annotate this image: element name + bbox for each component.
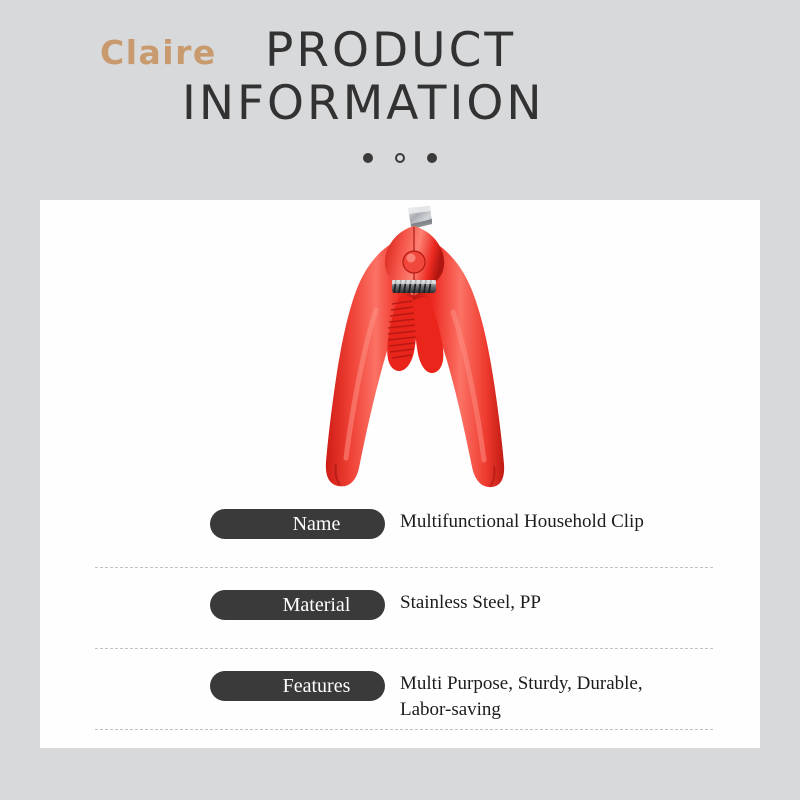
dot-filled-right <box>427 153 437 163</box>
metal-tip-icon <box>408 206 432 229</box>
spec-label-cell: Features <box>95 667 385 701</box>
spec-value-name: Multifunctional Household Clip <box>400 509 768 535</box>
page-title-line-2: INFORMATION <box>182 79 544 128</box>
brand-logo: Claire <box>100 36 217 69</box>
product-spec-table: Name Multifunctional Household Clip Mate… <box>95 505 768 730</box>
spec-value-cell: Multi Purpose, Sturdy, Durable, Labor-sa… <box>385 667 768 723</box>
spec-label-cell: Material <box>95 586 385 620</box>
dot-hollow-center <box>395 153 405 163</box>
spec-label-material: Material <box>210 590 385 620</box>
table-row: Name Multifunctional Household Clip <box>95 505 768 567</box>
spec-value-features-line-1: Multi Purpose, Sturdy, Durable, <box>400 671 768 697</box>
spec-label-cell: Name <box>95 505 385 539</box>
content-card: Name Multifunctional Household Clip Mate… <box>40 200 760 748</box>
spec-value-cell: Stainless Steel, PP <box>385 586 768 616</box>
page-header: Claire PRODUCT INFORMATION <box>0 0 800 200</box>
product-image <box>280 200 560 500</box>
page-title-line-1: PRODUCT <box>265 26 516 75</box>
spring-icon <box>392 280 436 293</box>
pivot-highlight <box>407 254 416 263</box>
spec-value-cell: Multifunctional Household Clip <box>385 505 768 535</box>
row-divider <box>95 729 713 730</box>
table-row: Features Multi Purpose, Sturdy, Durable,… <box>95 667 768 729</box>
spec-label-name: Name <box>210 509 385 539</box>
dot-filled-left <box>363 153 373 163</box>
decorative-dots <box>0 153 800 163</box>
table-row: Material Stainless Steel, PP <box>95 586 768 648</box>
spec-value-material: Stainless Steel, PP <box>400 590 768 616</box>
spec-label-features: Features <box>210 671 385 701</box>
spec-value-features-line-2: Labor-saving <box>400 697 768 723</box>
